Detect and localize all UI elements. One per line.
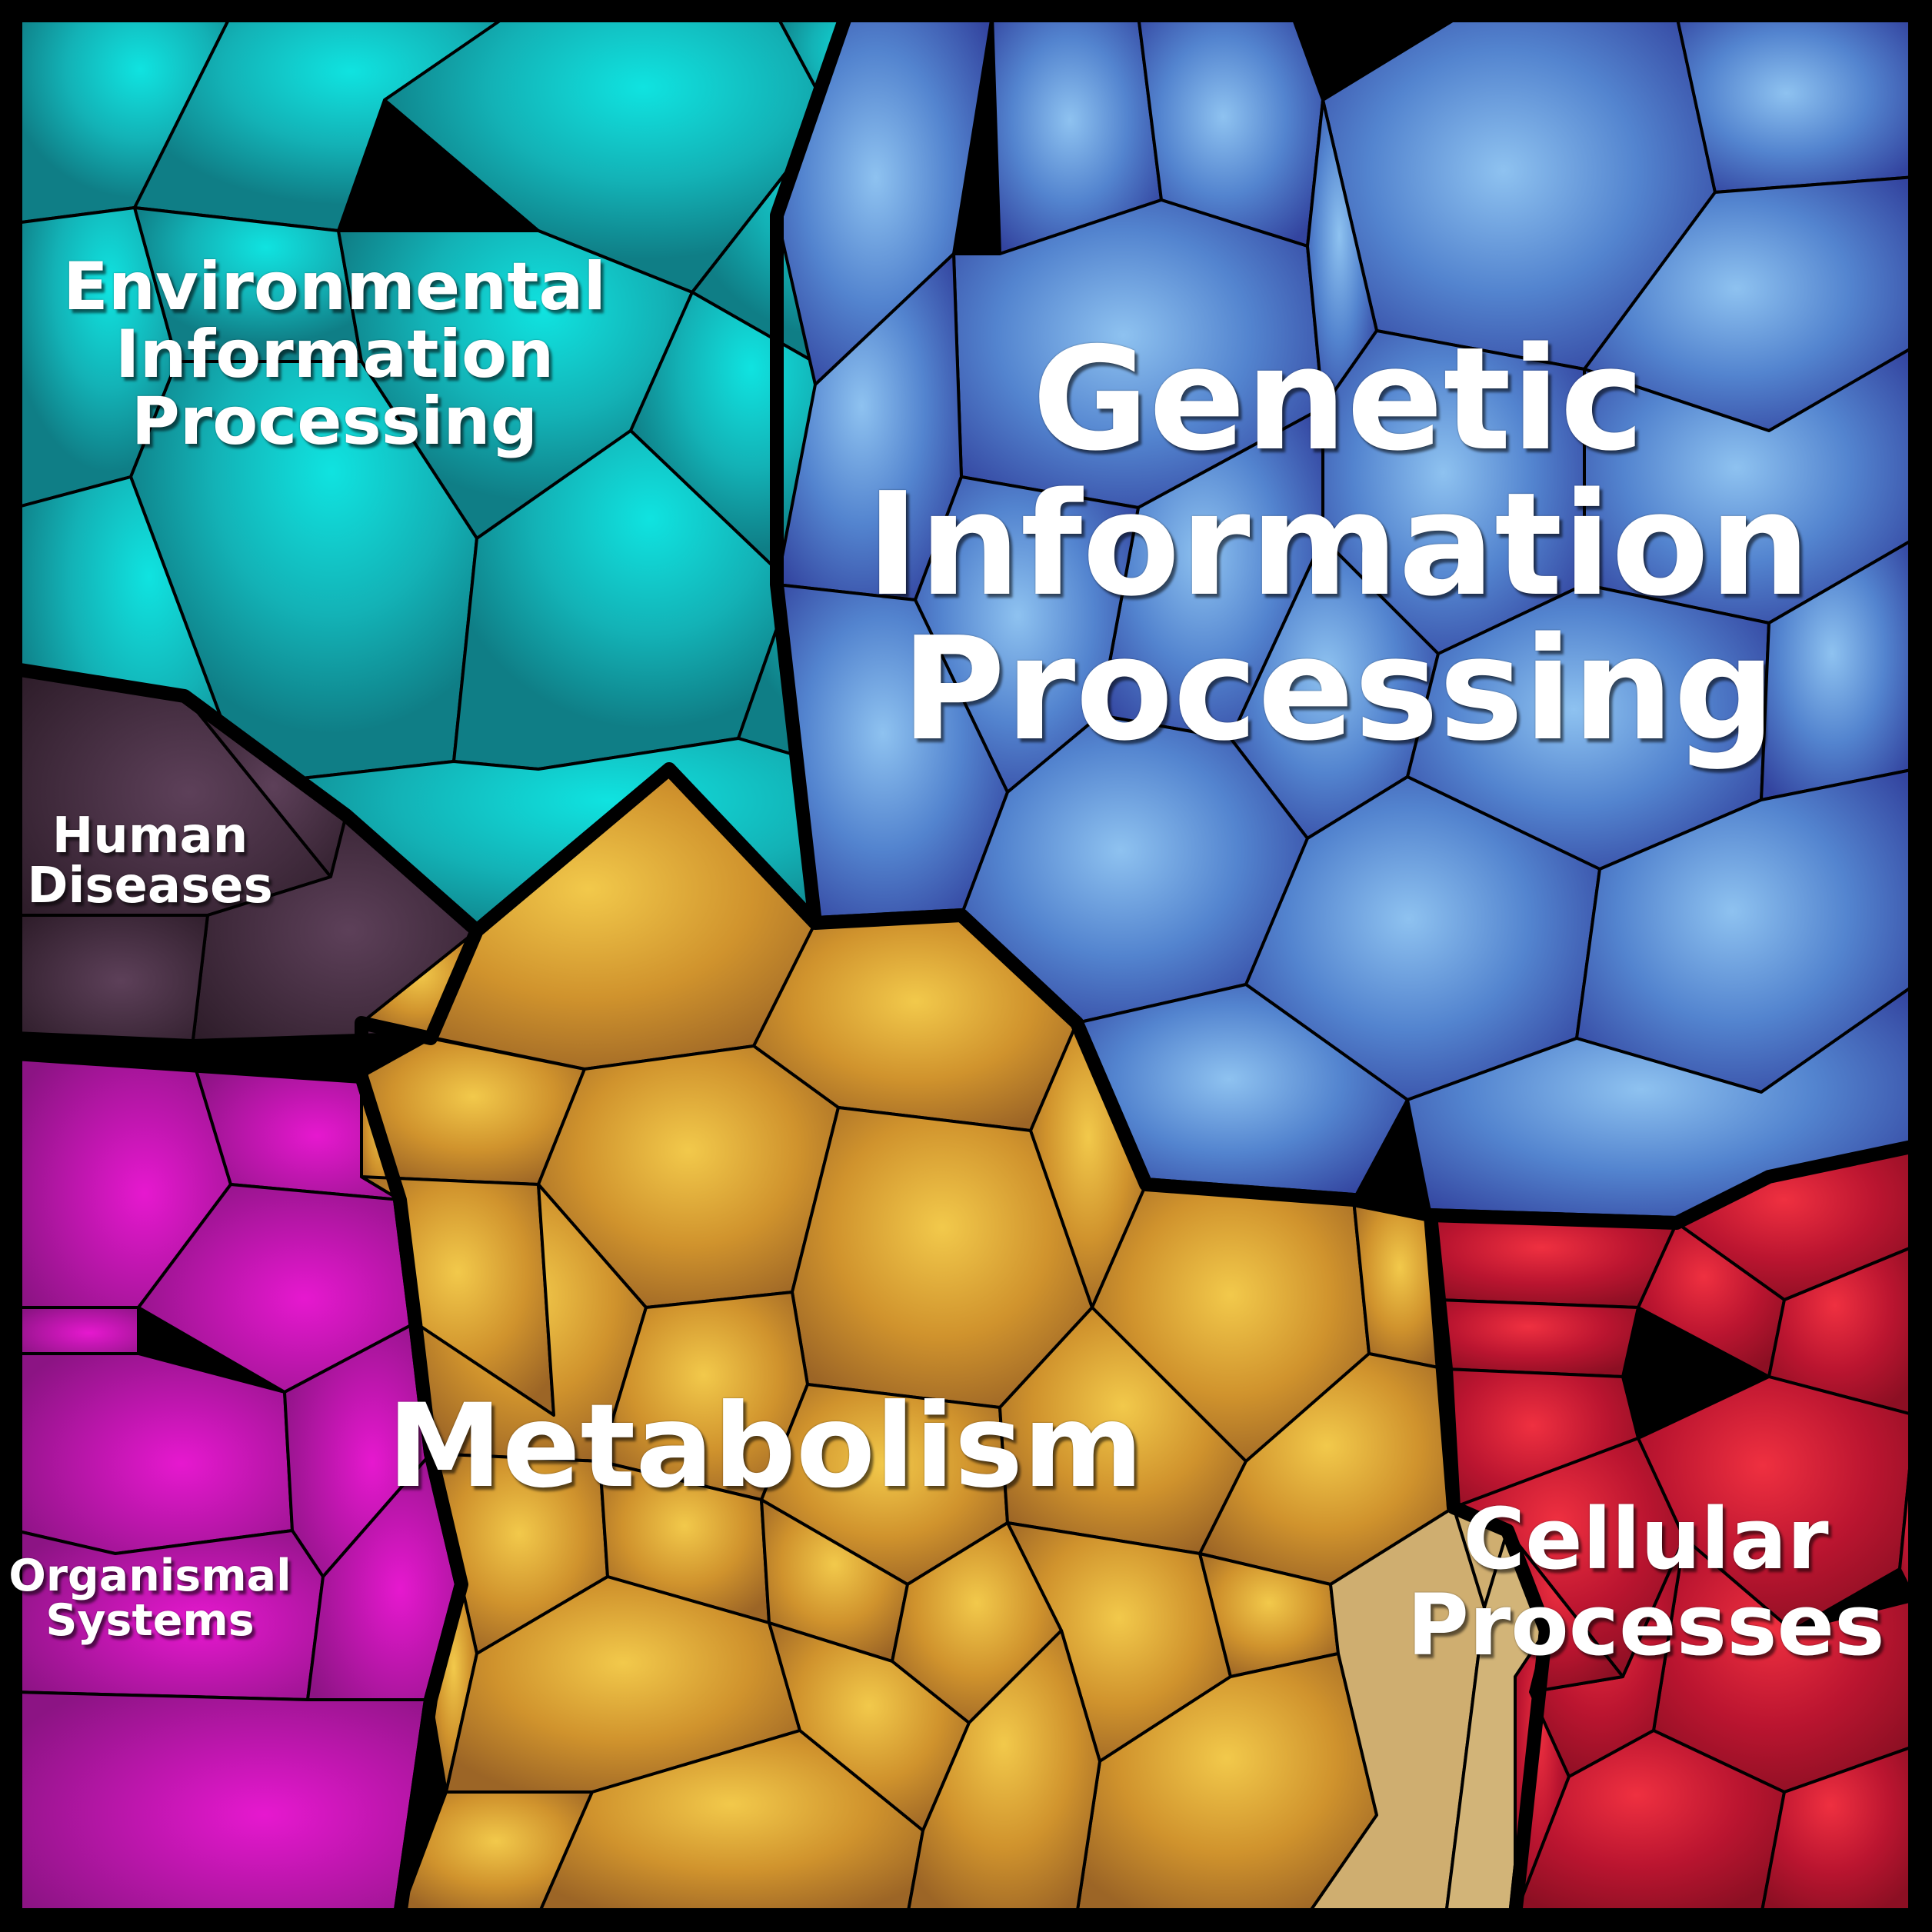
cell bbox=[15, 1354, 292, 1554]
cell bbox=[15, 915, 208, 1046]
cell bbox=[1438, 1300, 1638, 1377]
cell bbox=[15, 1692, 431, 1915]
cell bbox=[1677, 15, 1915, 192]
treemap-canvas bbox=[0, 0, 1932, 1932]
cell bbox=[15, 1307, 138, 1354]
cell bbox=[15, 1531, 323, 1700]
voronoi-treemap-figure: Environmental Information Processing Gen… bbox=[0, 0, 1932, 1932]
cell bbox=[1431, 1215, 1677, 1307]
